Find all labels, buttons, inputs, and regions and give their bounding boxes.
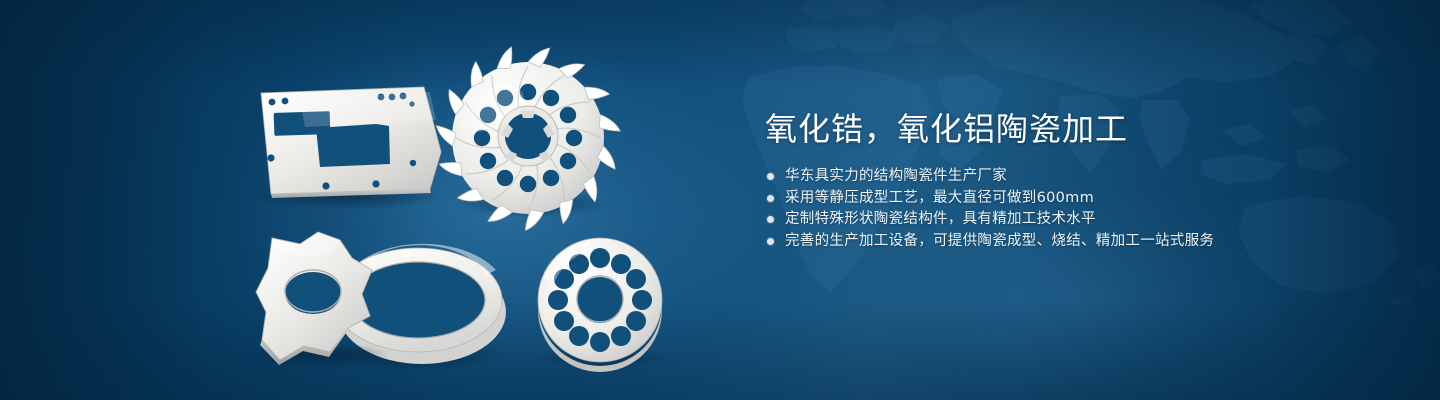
bullet-circle-icon xyxy=(767,173,774,180)
list-item: 采用等静压成型工艺，最大直径可做到600mm xyxy=(765,188,1385,210)
feature-list: 华东具实力的结构陶瓷件生产厂家 采用等静压成型工艺，最大直径可做到600mm 定… xyxy=(765,166,1385,252)
ceramic-perforated-disc xyxy=(538,238,664,372)
ceramic-impeller-disc xyxy=(436,47,620,231)
promo-banner: 氧化锆，氧化铝陶瓷加工 华东具实力的结构陶瓷件生产厂家 采用等静压成型工艺，最大… xyxy=(0,0,1440,400)
list-item: 定制特殊形状陶瓷结构件，具有精加工技术水平 xyxy=(765,209,1385,231)
ceramic-products-photo-group xyxy=(0,0,740,400)
list-item: 完善的生产加工设备，可提供陶瓷成型、烧结、精加工一站式服务 xyxy=(765,231,1385,253)
bullet-circle-icon xyxy=(767,195,774,202)
list-item: 华东具实力的结构陶瓷件生产厂家 xyxy=(765,166,1385,188)
list-item-label: 采用等静压成型工艺，最大直径可做到600mm xyxy=(785,190,1094,206)
list-item-label: 完善的生产加工设备，可提供陶瓷成型、烧结、精加工一站式服务 xyxy=(785,233,1214,249)
ceramic-plate-with-cutouts xyxy=(247,87,443,210)
bullet-circle-icon xyxy=(767,238,774,245)
bullet-circle-icon xyxy=(767,216,774,223)
page-title: 氧化锆，氧化铝陶瓷加工 xyxy=(765,108,1385,150)
banner-copy: 氧化锆，氧化铝陶瓷加工 华东具实力的结构陶瓷件生产厂家 采用等静压成型工艺，最大… xyxy=(765,108,1385,252)
list-item-label: 华东具实力的结构陶瓷件生产厂家 xyxy=(785,168,1007,184)
list-item-label: 定制特殊形状陶瓷结构件，具有精加工技术水平 xyxy=(785,211,1096,227)
